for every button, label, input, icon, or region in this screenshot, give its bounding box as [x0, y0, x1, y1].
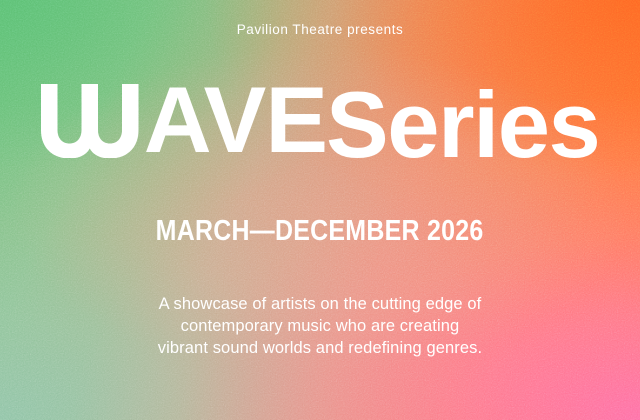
presenter-kicker: Pavilion Theatre presents: [237, 22, 404, 37]
description-line-2: contemporary music who are creating: [158, 315, 482, 337]
poster-title: AVE Series: [41, 82, 600, 162]
poster-canvas: Pavilion Theatre presents AVE Series MAR…: [0, 0, 640, 420]
description-line-1: A showcase of artists on the cutting edg…: [158, 293, 482, 315]
poster-content: Pavilion Theatre presents AVE Series MAR…: [0, 0, 640, 420]
title-wave-word: AVE: [41, 82, 327, 157]
season-dates: MARCH—DECEMBER 2026: [156, 215, 484, 248]
wave-w-glyph: [41, 84, 143, 158]
description-line-3: vibrant sound worlds and redefining genr…: [158, 337, 482, 359]
title-wave-letters: AVE: [144, 82, 327, 157]
title-series-word: Series: [326, 87, 599, 162]
poster-description: A showcase of artists on the cutting edg…: [158, 293, 482, 359]
